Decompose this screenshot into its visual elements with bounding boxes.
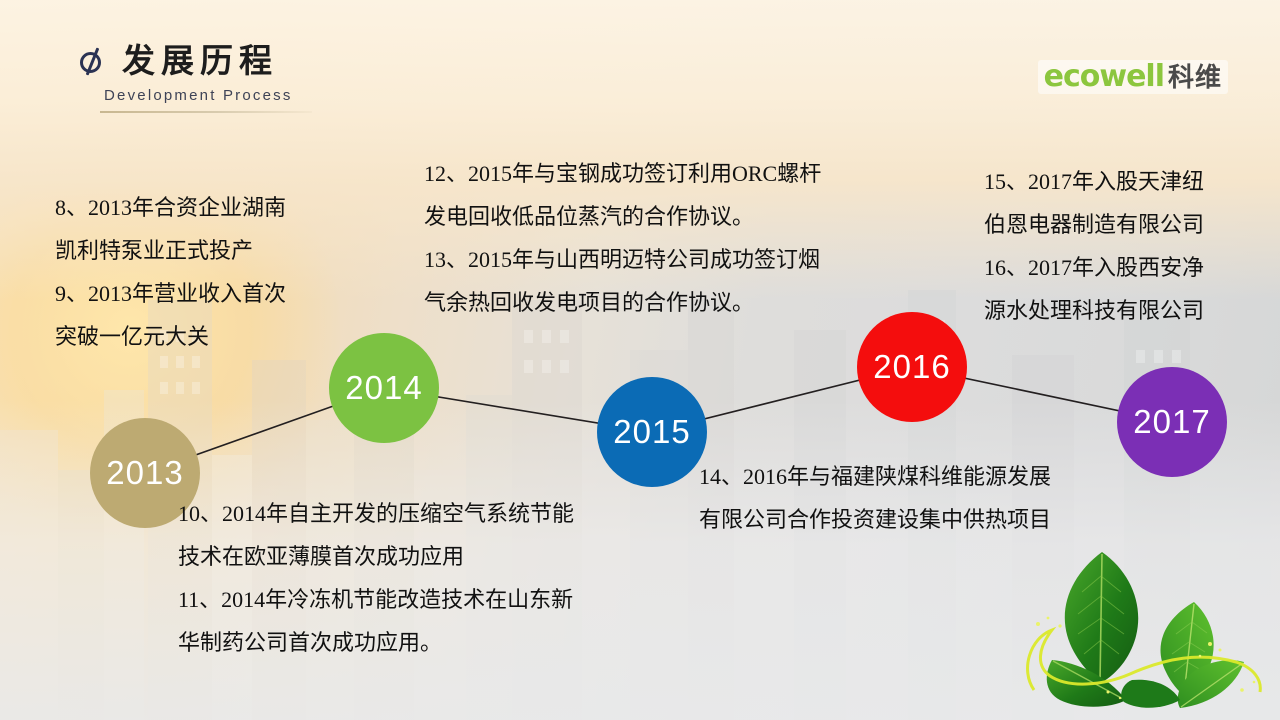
milestone-line: 源水处理科技有限公司 [984, 289, 1204, 332]
milestone-line: 有限公司合作投资建设集中供热项目 [699, 498, 1051, 541]
milestone-line: 凯利特泵业正式投产 [55, 229, 286, 272]
milestone-line: 11、2014年冷冻机节能改造技术在山东新 [178, 578, 574, 621]
milestone-block-center-top: 12、2015年与宝钢成功签订利用ORC螺杆 发电回收低品位蒸汽的合作协议。 1… [424, 152, 821, 324]
page-title: 发展历程 [122, 44, 278, 77]
milestone-line: 技术在欧亚薄膜首次成功应用 [178, 535, 574, 578]
milestone-line: 16、2017年入股西安净 [984, 246, 1204, 289]
green-leaves-icon [1004, 540, 1272, 720]
page-header: 发展历程 Development Process [78, 44, 312, 113]
milestone-block-left-bottom: 10、2014年自主开发的压缩空气系统节能 技术在欧亚薄膜首次成功应用 11、2… [178, 492, 574, 664]
milestone-line: 突破一亿元大关 [55, 315, 286, 358]
milestone-line: 发电回收低品位蒸汽的合作协议。 [424, 195, 821, 238]
milestone-line: 14、2016年与福建陕煤科维能源发展 [699, 455, 1051, 498]
milestone-line: 气余热回收发电项目的合作协议。 [424, 281, 821, 324]
slide-canvas: 发展历程 Development Process ecowell 科维 2013… [0, 0, 1280, 720]
milestone-line: 8、2013年合资企业湖南 [55, 186, 286, 229]
milestone-line: 华制药公司首次成功应用。 [178, 621, 574, 664]
timeline-node-year: 2015 [613, 413, 690, 451]
timeline-node-year: 2016 [873, 348, 950, 386]
header-divider [100, 111, 312, 113]
milestone-block-right-top: 15、2017年入股天津纽 伯恩电器制造有限公司 16、2017年入股西安净 源… [984, 160, 1204, 332]
logo-text-cn: 科维 [1168, 64, 1222, 90]
slashed-circle-icon [78, 46, 108, 76]
timeline-node-2015[interactable]: 2015 [597, 377, 707, 487]
timeline-node-2017[interactable]: 2017 [1117, 367, 1227, 477]
timeline-node-year: 2017 [1133, 403, 1210, 441]
company-logo: ecowell 科维 [1038, 60, 1228, 94]
milestone-line: 12、2015年与宝钢成功签订利用ORC螺杆 [424, 152, 821, 195]
timeline-node-year: 2014 [345, 369, 422, 407]
milestone-block-right-bottom: 14、2016年与福建陕煤科维能源发展 有限公司合作投资建设集中供热项目 [699, 455, 1051, 541]
milestone-line: 伯恩电器制造有限公司 [984, 203, 1204, 246]
timeline-node-2016[interactable]: 2016 [857, 312, 967, 422]
milestone-line: 9、2013年营业收入首次 [55, 272, 286, 315]
logo-text-en: ecowell [1044, 62, 1164, 92]
milestone-line: 13、2015年与山西明迈特公司成功签订烟 [424, 238, 821, 281]
timeline-node-year: 2013 [106, 454, 183, 492]
page-subtitle: Development Process [104, 87, 312, 104]
milestone-line: 10、2014年自主开发的压缩空气系统节能 [178, 492, 574, 535]
timeline-node-2014[interactable]: 2014 [329, 333, 439, 443]
milestone-line: 15、2017年入股天津纽 [984, 160, 1204, 203]
milestone-block-left-top: 8、2013年合资企业湖南 凯利特泵业正式投产 9、2013年营业收入首次 突破… [55, 186, 286, 358]
